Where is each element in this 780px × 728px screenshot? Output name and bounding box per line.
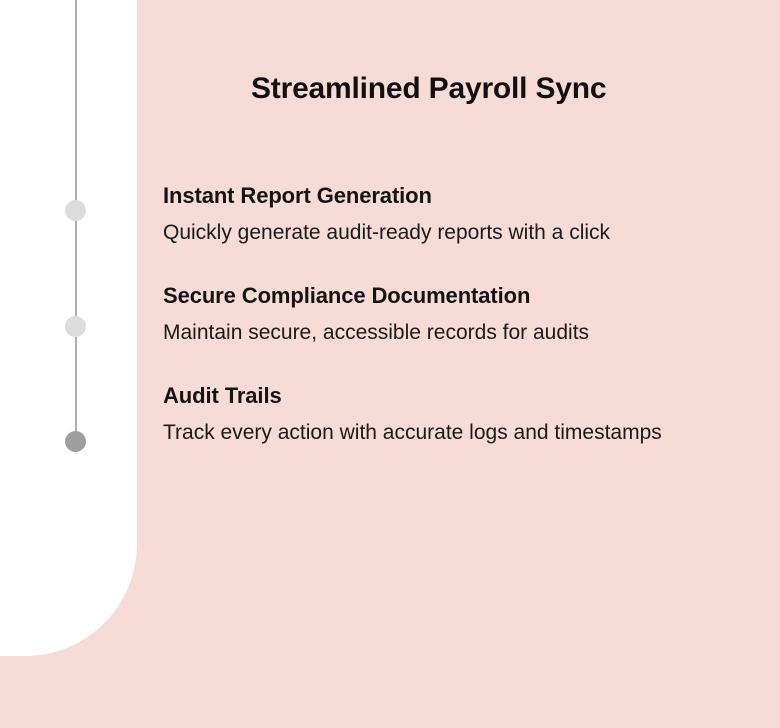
feature-heading: Secure Compliance Documentation xyxy=(163,282,763,310)
timeline-rail xyxy=(0,0,137,728)
timeline-dot-2[interactable] xyxy=(65,316,86,337)
feature-description: Quickly generate audit-ready reports wit… xyxy=(163,215,683,251)
page-title: Streamlined Payroll Sync xyxy=(251,72,606,106)
timeline-dot-1[interactable] xyxy=(65,200,86,221)
timeline-connector-line xyxy=(75,0,77,442)
content-area: Streamlined Payroll Sync Instant Report … xyxy=(137,0,780,728)
feature-description: Track every action with accurate logs an… xyxy=(163,415,683,451)
feature-heading: Audit Trails xyxy=(163,382,763,410)
feature-heading: Instant Report Generation xyxy=(163,182,763,210)
list-item: Secure Compliance Documentation Maintain… xyxy=(163,282,763,351)
timeline-dot-3[interactable] xyxy=(65,431,86,452)
slide-canvas: Streamlined Payroll Sync Instant Report … xyxy=(0,0,780,728)
list-item: Audit Trails Track every action with acc… xyxy=(163,382,763,451)
feature-description: Maintain secure, accessible records for … xyxy=(163,315,683,351)
list-item: Instant Report Generation Quickly genera… xyxy=(163,182,763,251)
feature-list: Instant Report Generation Quickly genera… xyxy=(163,182,763,482)
